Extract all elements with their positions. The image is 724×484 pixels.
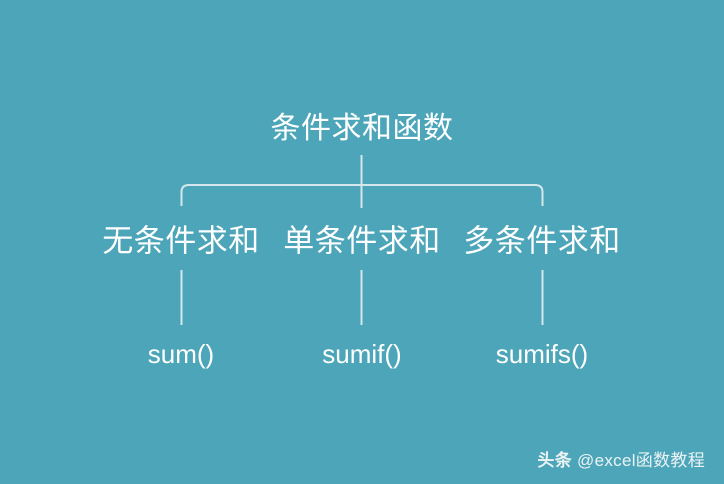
- watermark-handle: @excel函数教程: [577, 451, 705, 470]
- branch-node-label-1: 无条件求和: [102, 226, 260, 257]
- branch-node-label-3: 多条件求和: [463, 226, 621, 257]
- bracket-line: [182, 185, 543, 206]
- leaf-node-label-1: sum(): [148, 341, 214, 367]
- branch-node-label-2: 单条件求和: [283, 226, 441, 257]
- leaf-node-label-2: sumif(): [322, 341, 401, 367]
- root-node-label: 条件求和函数: [271, 114, 454, 144]
- leaf-node-label-3: sumifs(): [496, 341, 588, 367]
- watermark: 头条 @excel函数教程: [537, 451, 705, 470]
- diagram-canvas: 条件求和函数 无条件求和 单条件求和 多条件求和 sum() sumif() s…: [0, 0, 724, 484]
- watermark-brand: 头条: [537, 451, 572, 470]
